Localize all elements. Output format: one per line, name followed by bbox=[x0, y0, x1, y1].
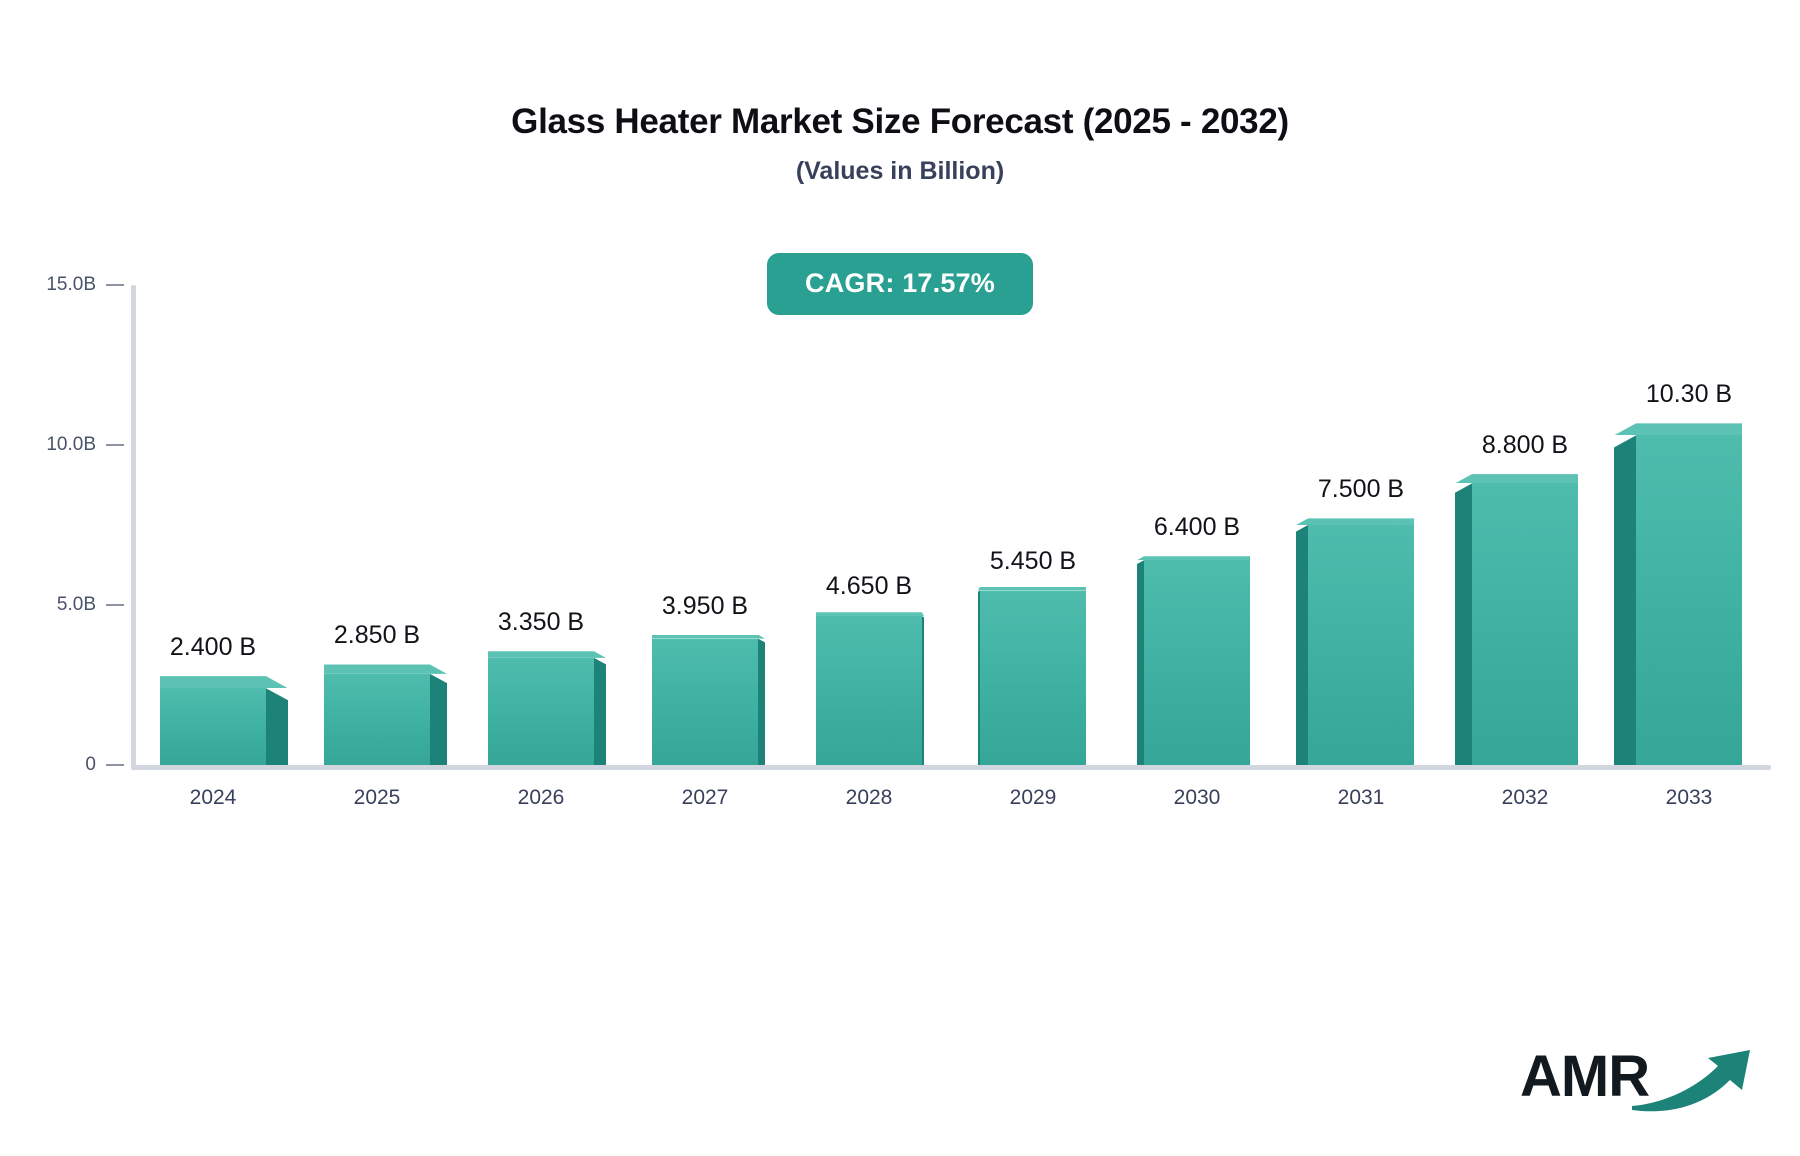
bar-front-face bbox=[816, 616, 922, 765]
y-axis-tick-mark bbox=[106, 604, 124, 606]
bar-front-face bbox=[1144, 560, 1250, 765]
x-axis-label-2031: 2031 bbox=[1338, 786, 1385, 810]
x-axis-labels: 2024202520262027202820292030203120322033 bbox=[131, 786, 1771, 826]
bar-side-face bbox=[1455, 483, 1472, 765]
bar-value-label: 6.400 B bbox=[1154, 513, 1240, 542]
y-axis-tick-label: 15.0B bbox=[46, 274, 96, 296]
x-axis-label-2027: 2027 bbox=[682, 786, 729, 810]
bar-side-face bbox=[1614, 435, 1636, 765]
bar-top-face bbox=[978, 587, 1086, 591]
x-axis-label-2025: 2025 bbox=[354, 786, 401, 810]
x-axis-label-2029: 2029 bbox=[1010, 786, 1057, 810]
bar-front-face bbox=[652, 639, 758, 765]
y-axis-tick-mark bbox=[106, 284, 124, 286]
x-axis-label-2024: 2024 bbox=[190, 786, 237, 810]
x-axis-label-2026: 2026 bbox=[518, 786, 565, 810]
bar-side-face bbox=[594, 658, 606, 765]
bar-value-label: 7.500 B bbox=[1318, 475, 1404, 504]
bar-side-face bbox=[266, 688, 288, 765]
bar-value-label: 10.30 B bbox=[1646, 380, 1732, 409]
x-axis-label-2028: 2028 bbox=[846, 786, 893, 810]
y-axis-tick: 5.0B bbox=[0, 595, 130, 615]
bar-side-face bbox=[1296, 525, 1308, 765]
bar-2032[interactable]: 8.800 B bbox=[1455, 285, 1578, 765]
x-axis-baseline bbox=[131, 765, 1771, 770]
bar-value-label: 2.850 B bbox=[334, 621, 420, 650]
bar-2029[interactable]: 5.450 B bbox=[978, 285, 1086, 765]
bar-top-face bbox=[488, 651, 606, 658]
bar-2033[interactable]: 10.30 B bbox=[1614, 285, 1742, 765]
bar-2025[interactable]: 2.850 B bbox=[324, 285, 447, 765]
bar-side-face bbox=[1137, 560, 1144, 765]
chart-plot-area: 05.0B10.0B15.0B 2.400 B2.850 B3.350 B3.9… bbox=[0, 0, 1800, 1156]
bar-front-face bbox=[488, 658, 594, 765]
growth-arrow-icon bbox=[1630, 1044, 1760, 1114]
bar-value-label: 3.350 B bbox=[498, 608, 584, 637]
bar-value-label: 8.800 B bbox=[1482, 431, 1568, 460]
bar-value-label: 2.400 B bbox=[170, 633, 256, 662]
y-axis-tick-label: 10.0B bbox=[46, 434, 96, 456]
bar-front-face bbox=[1308, 525, 1414, 765]
bar-front-face bbox=[324, 674, 430, 765]
bar-2028[interactable]: 4.650 B bbox=[816, 285, 924, 765]
bar-top-face bbox=[1455, 474, 1578, 483]
bar-2024[interactable]: 2.400 B bbox=[160, 285, 288, 765]
bar-front-face bbox=[160, 688, 266, 765]
bar-top-face bbox=[1296, 518, 1414, 525]
bar-front-face bbox=[980, 591, 1086, 765]
y-axis-tick: 15.0B bbox=[0, 275, 130, 295]
bar-2031[interactable]: 7.500 B bbox=[1296, 285, 1414, 765]
bars-layer: 2.400 B2.850 B3.350 B3.950 B4.650 B5.450… bbox=[131, 285, 1771, 765]
y-axis-tick-mark bbox=[106, 764, 124, 766]
y-axis-tick-label: 0 bbox=[85, 754, 96, 776]
bar-2030[interactable]: 6.400 B bbox=[1137, 285, 1250, 765]
y-axis-tick: 0 bbox=[0, 755, 130, 775]
y-axis-tick-label: 5.0B bbox=[57, 594, 96, 616]
bar-top-face bbox=[324, 664, 447, 673]
bar-2026[interactable]: 3.350 B bbox=[488, 285, 606, 765]
bar-top-face bbox=[652, 635, 765, 639]
y-axis-tick-mark bbox=[106, 444, 124, 446]
amr-logo: AMR bbox=[1520, 1036, 1760, 1126]
bar-top-face bbox=[816, 612, 924, 616]
bar-value-label: 5.450 B bbox=[990, 547, 1076, 576]
bar-top-face bbox=[160, 676, 288, 688]
bar-value-label: 4.650 B bbox=[826, 572, 912, 601]
bar-front-face bbox=[1472, 483, 1578, 765]
x-axis-label-2030: 2030 bbox=[1174, 786, 1221, 810]
bar-top-face bbox=[1614, 423, 1742, 435]
bar-top-face bbox=[1137, 556, 1250, 560]
x-axis-label-2032: 2032 bbox=[1502, 786, 1549, 810]
bar-front-face bbox=[1636, 435, 1742, 765]
bar-value-label: 3.950 B bbox=[662, 592, 748, 621]
y-axis-tick: 10.0B bbox=[0, 435, 130, 455]
bar-side-face bbox=[430, 674, 447, 765]
x-axis-label-2033: 2033 bbox=[1666, 786, 1713, 810]
bar-2027[interactable]: 3.950 B bbox=[652, 285, 765, 765]
bar-side-face bbox=[922, 616, 924, 765]
bar-side-face bbox=[758, 639, 765, 765]
